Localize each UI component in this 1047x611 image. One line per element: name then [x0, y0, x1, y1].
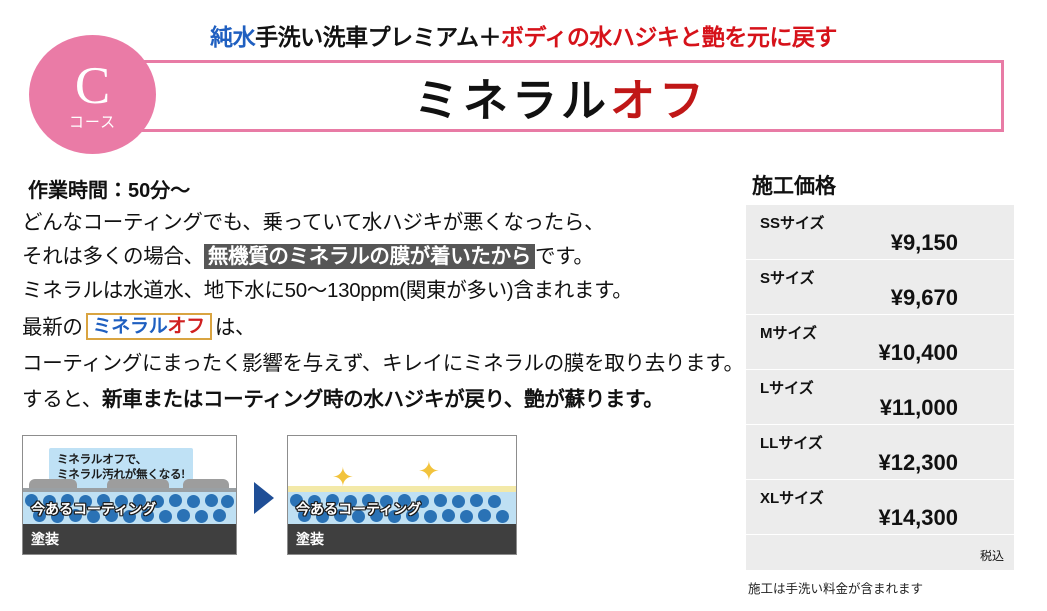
- chip-red-text: オフ: [167, 316, 204, 337]
- coating-label-after: 今あるコーティング: [296, 499, 421, 519]
- table-row: Lサイズ ¥11,000: [746, 370, 1014, 425]
- table-row: XLサイズ ¥14,300: [746, 480, 1014, 535]
- course-title: ミネラルオフ: [118, 60, 1004, 132]
- paint-label-after: 塗装: [296, 529, 324, 549]
- price-table: SSサイズ ¥9,150 Sサイズ ¥9,670 Mサイズ ¥10,400 Lサ…: [746, 205, 1014, 570]
- price-amount-value: ¥9,670: [891, 285, 958, 311]
- table-row: Mサイズ ¥10,400: [746, 315, 1014, 370]
- price-amount-value: ¥14,300: [878, 505, 958, 531]
- description-block-2: 最新のミネラルオフは、 コーティングにまったく影響を与えず、キレイにミネラルの膜…: [22, 310, 722, 418]
- description-line-2-pre: それは多くの場合、: [22, 245, 204, 268]
- price-size-label: Sサイズ: [760, 267, 815, 288]
- price-footnote: 施工は手洗い料金が含まれます: [748, 578, 923, 597]
- course-badge-letter: C: [75, 60, 110, 113]
- tagline-red-part: ボディの水ハジキと艶を元に戻す: [501, 24, 837, 50]
- course-badge-sublabel: コース: [69, 115, 116, 130]
- description-line-4-post: は、: [215, 316, 255, 339]
- description-line-6-pre: すると、: [22, 388, 102, 411]
- price-amount-value: ¥9,150: [891, 230, 958, 256]
- table-row: Sサイズ ¥9,670: [746, 260, 1014, 315]
- coating-label-before: 今あるコーティング: [31, 499, 156, 519]
- description-line-4: 最新のミネラルオフは、: [22, 310, 722, 346]
- price-section-title: 施工価格: [752, 170, 836, 200]
- price-amount-value: ¥10,400: [878, 340, 958, 366]
- price-amount-value: ¥12,300: [878, 450, 958, 476]
- header-tagline: 純水手洗い洗車プレミアム＋ボディの水ハジキと艶を元に戻す: [0, 18, 1047, 52]
- work-time-label: 作業時間：50分〜: [28, 174, 190, 203]
- tagline-black-part: 手洗い洗車プレミアム＋: [255, 24, 501, 50]
- arrow-right-icon: [254, 482, 274, 514]
- paint-layer-after: 塗装: [288, 524, 516, 554]
- description-line-4-pre: 最新の: [22, 316, 83, 339]
- paint-label-before: 塗装: [31, 529, 59, 549]
- description-line-2: それは多くの場合、無機質のミネラルの膜が着いたからです。: [22, 240, 722, 274]
- description-line-3: ミネラルは水道水、地下水に50〜130ppm(関東が多い)含まれます。: [22, 274, 722, 308]
- bubble-line-1: ミネラルオフで、: [57, 453, 185, 468]
- course-title-red: オフ: [610, 64, 708, 129]
- course-badge: C コース: [29, 35, 156, 154]
- coating-layer-before: 今あるコーティング: [23, 492, 236, 524]
- price-size-label: LLサイズ: [760, 432, 823, 453]
- price-amount-value: ¥11,000: [880, 395, 958, 421]
- description-block-1: どんなコーティングでも、乗っていて水ハジキが悪くなったら、 それは多くの場合、無…: [22, 206, 722, 308]
- promo-page: 純水手洗い洗車プレミアム＋ボディの水ハジキと艶を元に戻す ミネラルオフ C コー…: [0, 0, 1047, 611]
- mineral-off-chip: ミネラルオフ: [86, 313, 212, 340]
- diagram-group: ミネラルオフで、 ミネラル汚れが無くなる!: [22, 425, 552, 565]
- description-line-5: コーティングにまったく影響を与えず、キレイにミネラルの膜を取り去ります。: [22, 346, 722, 382]
- price-size-label: SSサイズ: [760, 212, 825, 233]
- sparkle-icon-2: ✦: [418, 458, 440, 484]
- mineral-film-highlight: 無機質のミネラルの膜が着いたから: [204, 244, 535, 269]
- description-line-2-post: です。: [535, 245, 594, 268]
- tagline-blue-part: 純水: [210, 24, 255, 50]
- diagram-before: ミネラルオフで、 ミネラル汚れが無くなる!: [22, 435, 237, 555]
- table-row: SSサイズ ¥9,150: [746, 205, 1014, 260]
- diagram-after: ✦ ✦ 今あるコーティング: [287, 435, 517, 555]
- tax-included-note: 税込: [980, 547, 1004, 564]
- description-line-1: どんなコーティングでも、乗っていて水ハジキが悪くなったら、: [22, 206, 722, 240]
- price-size-label: Mサイズ: [760, 322, 817, 343]
- table-row: LLサイズ ¥12,300: [746, 425, 1014, 480]
- description-line-6-bold: 新車またはコーティング時の水ハジキが戻り、艶が蘇ります。: [102, 388, 664, 411]
- chip-blue-text: ミネラル: [93, 316, 168, 337]
- course-title-black: ミネラル: [414, 64, 610, 129]
- coating-layer-after: 今あるコーティング: [288, 492, 516, 524]
- price-size-label: Lサイズ: [760, 377, 814, 398]
- description-line-6: すると、新車またはコーティング時の水ハジキが戻り、艶が蘇ります。: [22, 382, 722, 418]
- paint-layer-before: 塗装: [23, 524, 236, 554]
- price-size-label: XLサイズ: [760, 487, 824, 508]
